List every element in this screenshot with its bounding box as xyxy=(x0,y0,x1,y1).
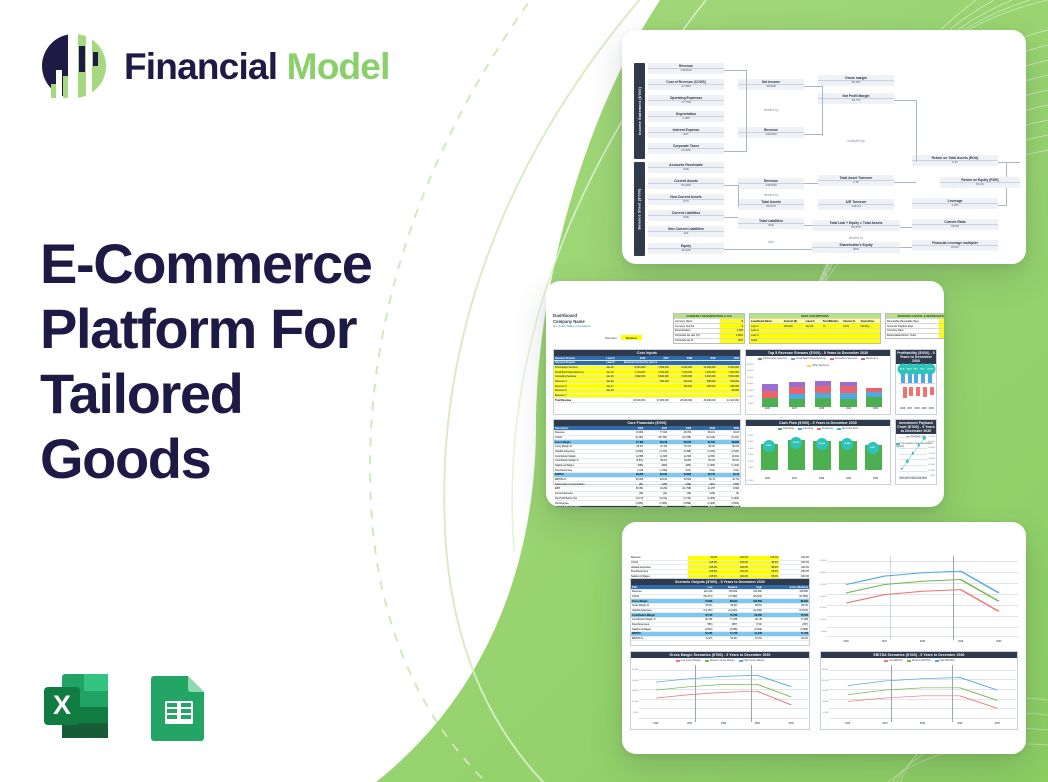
dupont-box-leverage: Leverage1.9% xyxy=(912,198,998,209)
dupont-box-revenue-mid2: Revenue136,800 xyxy=(738,178,804,189)
brand-logo: Financial Model xyxy=(38,30,390,102)
dupont-box-total-liab-equity: Total Liab + Equity = Total Assets50,576 xyxy=(812,220,900,231)
dupont-box-non-current-liabilities: Non Current Liabilities101 xyxy=(648,226,724,237)
block-debt-assumptions: DEBT ASSUMPTIONS Loan/Grant Name Amount … xyxy=(749,313,881,344)
google-sheets-icon xyxy=(140,668,216,744)
profitability-plot: 66.0% 65.0% 64.1% 65.3% 62.7% 2026 2027 … xyxy=(897,363,935,413)
ebitda-plot: 25,000 20,000 15,000 10,000 5,000 - xyxy=(822,665,1016,728)
profitability-label-2030: 62.7% xyxy=(925,364,936,375)
dashboard-sheet: Dashboard Company Name Go to the Table o… xyxy=(553,313,937,485)
dupont-op-divided-by-2: divided by xyxy=(738,193,804,197)
svg-text:X: X xyxy=(53,690,71,720)
panel-profitability: Profitability ($'000) - 5 Years to Decem… xyxy=(895,349,937,415)
dupont-diagram: Income Statement ($'000) Balance Sheet (… xyxy=(634,63,1020,238)
page-title: E-Commerce Platform For Tailored Goods xyxy=(40,232,460,492)
scenario-selector[interactable]: Scenario Medium xyxy=(605,335,642,340)
dupont-box-total-liabilities: Total Liabilities949 xyxy=(738,218,804,229)
brand-wordmark: Financial Model xyxy=(124,48,390,85)
dashboard-toc-link[interactable]: Go to the Table of Contents xyxy=(553,325,591,329)
table-row: Net Cash Surplus/Gap8,0013,8477,64716,31… xyxy=(554,505,740,507)
microsoft-excel-icon: X xyxy=(38,668,114,744)
assumptions-table: Revenue90.0%100.0%110.0%100.0% COGS105.0… xyxy=(630,556,810,579)
cashflow-label-2026: 8,001 xyxy=(763,440,775,452)
panel-core-financials: Core Financials ($'000) Description20262… xyxy=(553,419,741,485)
gross-margin-plot: 25,000 20,000 15,000 10,000 5,000 - xyxy=(632,665,808,728)
dupont-box-shareholders-equity: Shareholder's Equity800 xyxy=(812,242,900,253)
cashflow-label-2030: 8,917 xyxy=(867,442,879,454)
ebitda-legend: Low EBITDA Medium EBITDA High EBITDA xyxy=(821,658,1017,662)
core-financials-table: Description20262027202820292030 Revenue1… xyxy=(554,426,740,507)
dupont-box-revenue: Revenue136,800 xyxy=(648,63,724,74)
dupont-box-current-ratio: Current Ratio58.98 xyxy=(912,219,998,230)
band-balance-sheet: Balance Sheet ($'000) xyxy=(634,162,645,256)
panel-ebitda-scenarios: EBITDA Scenarios ($'000) - 5 Years to De… xyxy=(820,651,1018,730)
dupont-box-accounts-receivable: Accounts Receivable948 xyxy=(648,162,724,173)
scenario-summary-chart: 35,000 30,000 25,000 20,000 15,000 10,00… xyxy=(820,556,1018,646)
panel-scenario-outputs: Scenario Outputs ($'000) - 5 Years to De… xyxy=(630,578,810,646)
dupont-box-financial-leverage-multiplier: Financial Leverage multiplier63.22 xyxy=(912,240,998,251)
scenario-sheet: Revenue90.0%100.0%110.0%100.0% COGS105.0… xyxy=(630,556,1018,730)
dupont-op-multiplied-by-1: multiplied by xyxy=(818,139,894,143)
dupont-box-non-current-assets: Non Current Assets570 xyxy=(648,194,724,205)
band-income-statement: Income Statement ($'000) xyxy=(634,63,645,159)
scenario-assumptions-grid: Revenue90.0%100.0%110.0%100.0% COGS105.0… xyxy=(630,556,810,579)
dupont-box-net-profit-margin: Net Profit Margin35.7% xyxy=(818,93,894,104)
dupont-box-corporate-taxes: Corporate Taxes20,526 xyxy=(648,143,724,154)
dupont-box-opex: Operating Expenses17,758 xyxy=(648,95,724,106)
cashflow-legend: Operating Investing Financing Net Cash F… xyxy=(746,426,890,430)
cashflow-label-2028: 10,104 xyxy=(816,438,828,450)
panel-investment-payback: Investment Payback Chart ($'000) - 5 Yea… xyxy=(895,419,937,485)
payback-plot: 70,000 60,000 50,000 40,000 30,000 20,00… xyxy=(897,433,935,483)
block-currency-denomination-tax: CURRENCY DENOMINATION & TAX Currency Nam… xyxy=(673,313,745,344)
gross-margin-legend: Low Gross Margin Medium Gross Margin Hig… xyxy=(631,658,809,662)
dashboard-title-block: Dashboard Company Name Go to the Table o… xyxy=(553,313,591,329)
dupont-box-depreciation: Depreciation1,265 xyxy=(648,111,724,122)
revenue-streams-plot: 35,000 30,000 25,000 20,000 15,000 10,00… xyxy=(747,363,889,413)
dupont-box-gross-margin: Gross margin65.0% xyxy=(818,75,894,86)
dupont-op-divided-by-3: divided by xyxy=(818,236,894,240)
headline-line-1: E-Commerce xyxy=(40,232,460,297)
dupont-box-ar-turnover: A/R Turnover144.24 xyxy=(818,199,894,210)
panel-core-inputs: Core Inputs Revenue StreamsLaunch2026202… xyxy=(553,349,741,415)
table-row: EBITDA %42.2%52.0%57.0%52.0% xyxy=(631,636,809,641)
dupont-box-current-assets: Current Assets50,006 xyxy=(648,178,724,189)
cashflow-label-2027: 10,378 xyxy=(790,437,802,449)
dupont-op-add: Add xyxy=(738,240,804,244)
brand-word-financial: Financial xyxy=(124,46,277,87)
hero-left-panel: Financial Model E-Commerce Platform For … xyxy=(0,0,470,782)
dupont-box-equity: Equity49,628 xyxy=(648,243,724,254)
core-inputs-table: Revenue StreamsLaunch2026202720282029203… xyxy=(554,356,740,403)
file-format-icons: X xyxy=(38,668,216,744)
dupont-box-current-liabilities: Current Liabilities848 xyxy=(648,210,724,221)
dupont-box-net-income: Net Income48,828 xyxy=(738,79,804,90)
scenario-label: Scenario xyxy=(605,336,617,340)
panel-cash-flow: Cash Flow ($'000) - 5 Years to December … xyxy=(745,419,891,485)
scenario-value[interactable]: Medium xyxy=(621,335,642,340)
headline-line-2: Platform For xyxy=(40,297,460,362)
dashboard-title: Dashboard xyxy=(553,313,577,318)
dupont-box-roe: Return on Equity (ROE) 61.03 xyxy=(940,177,1020,188)
dupont-box-total-asset-turnover: Total Asset Turnover2.70 xyxy=(818,175,894,186)
dupont-box-revenue-mid: Revenue136,800 xyxy=(738,127,804,138)
brand-word-model: Model xyxy=(287,46,390,87)
dupont-box-cogs: Cost of Revenue (COGS)47,880 xyxy=(648,79,724,90)
table-row-total: Total Revenue20,000,00027,000,00028,400,… xyxy=(554,398,740,403)
dupont-box-interest-expense: Interest Expense537 xyxy=(648,127,724,138)
panel-gross-margin-scenarios: Gross Margin Scenarios ($'000) - 5 Years… xyxy=(630,651,810,730)
pie-chart-bars-logo-icon xyxy=(38,30,110,102)
scenario-analysis-card: Revenue90.0%100.0%110.0%100.0% COGS105.0… xyxy=(622,522,1026,754)
dupont-analysis-card: Income Statement ($'000) Balance Sheet (… xyxy=(622,30,1026,264)
scenario-outputs-table: KPIsLowMediumHighActive (Medium) Revenue… xyxy=(631,585,809,641)
block-working-capital-depreciation: WORKING CAPITAL & DEPRECIATION Receivabl… xyxy=(885,313,944,339)
dupont-box-total-assets: Total Assets50,576 xyxy=(738,199,804,210)
financial-dashboard-card: Dashboard Company Name Go to the Table o… xyxy=(546,281,944,507)
dupont-box-roa: Return on Total Assets (ROA)0.97 xyxy=(912,155,998,166)
panel-top-revenue-streams: Top 5 Revenue Streams ($'000) - 5 Years … xyxy=(745,349,891,415)
cashflow-plot: 12,000 10,000 8,000 6,000 4,000 2,000 - … xyxy=(747,433,889,483)
dupont-op-divided-by-1: divided by xyxy=(738,108,804,112)
headline-line-3: Tailored xyxy=(40,362,460,427)
cashflow-label-2029: 10,090 xyxy=(841,438,853,450)
headline-line-4: Goods xyxy=(40,427,460,492)
